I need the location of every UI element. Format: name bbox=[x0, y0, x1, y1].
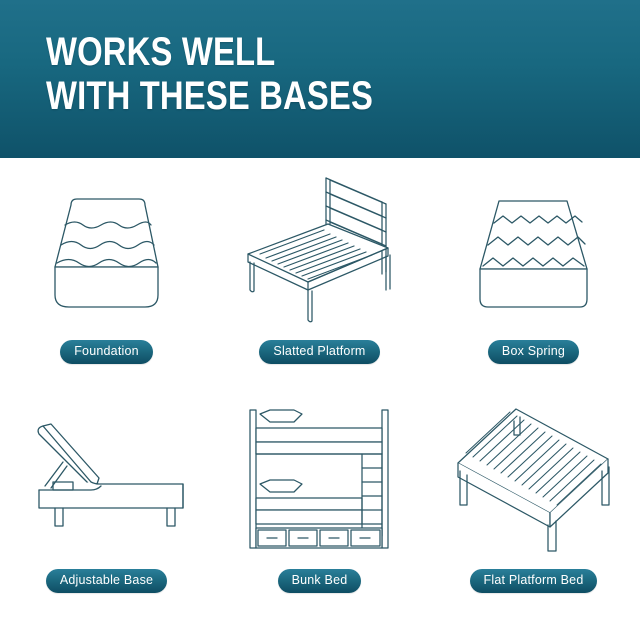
page-title: WORKS WELL WITH THESE BASES bbox=[46, 30, 373, 118]
base-label-bunk-bed[interactable]: Bunk Bed bbox=[278, 569, 362, 593]
base-card-flat-platform-bed[interactable]: Flat Platform Bed bbox=[427, 387, 640, 628]
base-label-foundation[interactable]: Foundation bbox=[60, 340, 153, 364]
box-spring-icon bbox=[427, 162, 640, 337]
base-label-box-spring[interactable]: Box Spring bbox=[488, 340, 579, 364]
bases-grid: Foundation bbox=[0, 158, 640, 640]
bunk-bed-icon bbox=[213, 391, 426, 566]
base-card-foundation[interactable]: Foundation bbox=[0, 158, 213, 399]
infographic-page: WORKS WELL WITH THESE BASES Foundation bbox=[0, 0, 640, 640]
badge-wrap: Adjustable Base bbox=[0, 569, 213, 593]
base-card-adjustable-base[interactable]: Adjustable Base bbox=[0, 387, 213, 628]
base-label-adjustable-base[interactable]: Adjustable Base bbox=[46, 569, 167, 593]
base-card-box-spring[interactable]: Box Spring bbox=[427, 158, 640, 399]
base-label-flat-platform-bed[interactable]: Flat Platform Bed bbox=[470, 569, 598, 593]
base-label-slatted-platform[interactable]: Slatted Platform bbox=[259, 340, 379, 364]
adjustable-base-icon bbox=[0, 391, 213, 566]
badge-wrap: Flat Platform Bed bbox=[427, 569, 640, 593]
flat-platform-bed-icon bbox=[427, 391, 640, 566]
base-card-slatted-platform[interactable]: Slatted Platform bbox=[213, 158, 426, 399]
header-banner: WORKS WELL WITH THESE BASES bbox=[0, 0, 640, 158]
slatted-platform-bed-icon bbox=[213, 162, 426, 337]
badge-wrap: Bunk Bed bbox=[213, 569, 426, 593]
foundation-mattress-icon bbox=[0, 162, 213, 337]
badge-wrap: Slatted Platform bbox=[213, 340, 426, 364]
base-card-bunk-bed[interactable]: Bunk Bed bbox=[213, 387, 426, 628]
badge-wrap: Foundation bbox=[0, 340, 213, 364]
badge-wrap: Box Spring bbox=[427, 340, 640, 364]
